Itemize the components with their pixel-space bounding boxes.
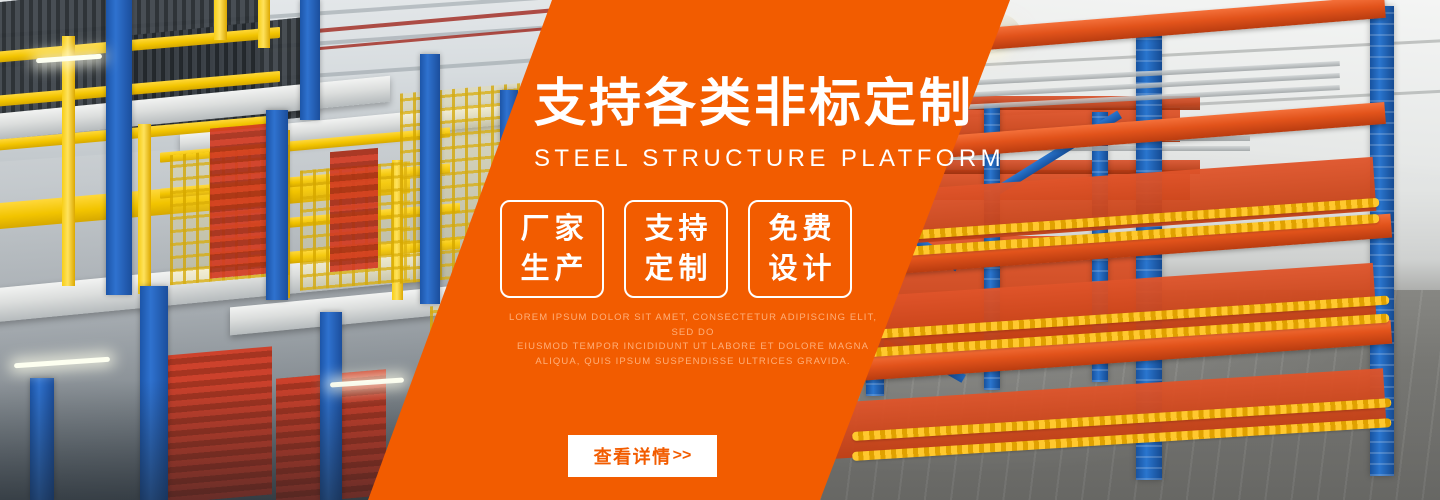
description-line-1: LOREM IPSUM DOLOR SIT AMET, CONSECTETUR … [498, 311, 888, 340]
promo-banner: 支持各类非标定制 STEEL STRUCTURE PLATFORM 厂家 生产 … [0, 0, 1440, 500]
description-line-2: EIUSMOD TEMPOR INCIDIDUNT UT LABORE ET D… [498, 340, 888, 355]
badge-line-2: 定制 [639, 249, 712, 289]
badge-line-2: 设计 [763, 249, 836, 289]
badge-line-1: 免费 [763, 209, 836, 249]
banner-content: 支持各类非标定制 STEEL STRUCTURE PLATFORM 厂家 生产 … [0, 0, 1440, 500]
badge-line-2: 生产 [515, 249, 588, 289]
description-text: LOREM IPSUM DOLOR SIT AMET, CONSECTETUR … [498, 311, 888, 369]
badge-line-1: 厂家 [515, 209, 588, 249]
badge-line-1: 支持 [639, 209, 712, 249]
feature-badge-free-design: 免费 设计 [748, 200, 852, 298]
feature-badge-customization: 支持 定制 [624, 200, 728, 298]
headline: 支持各类非标定制 [534, 74, 964, 134]
view-details-button[interactable]: 查看详情 >> [568, 435, 717, 477]
cta-label: 查看详情 [594, 443, 672, 469]
feature-badge-manufacturer: 厂家 生产 [500, 200, 604, 298]
subheadline: STEEL STRUCTURE PLATFORM [534, 144, 964, 174]
feature-badge-list: 厂家 生产 支持 定制 免费 设计 [500, 200, 852, 298]
description-line-3: ALIQUA, QUIS IPSUM SUSPENDISSE ULTRICES … [498, 355, 888, 370]
double-chevron-right-icon: >> [673, 447, 692, 465]
